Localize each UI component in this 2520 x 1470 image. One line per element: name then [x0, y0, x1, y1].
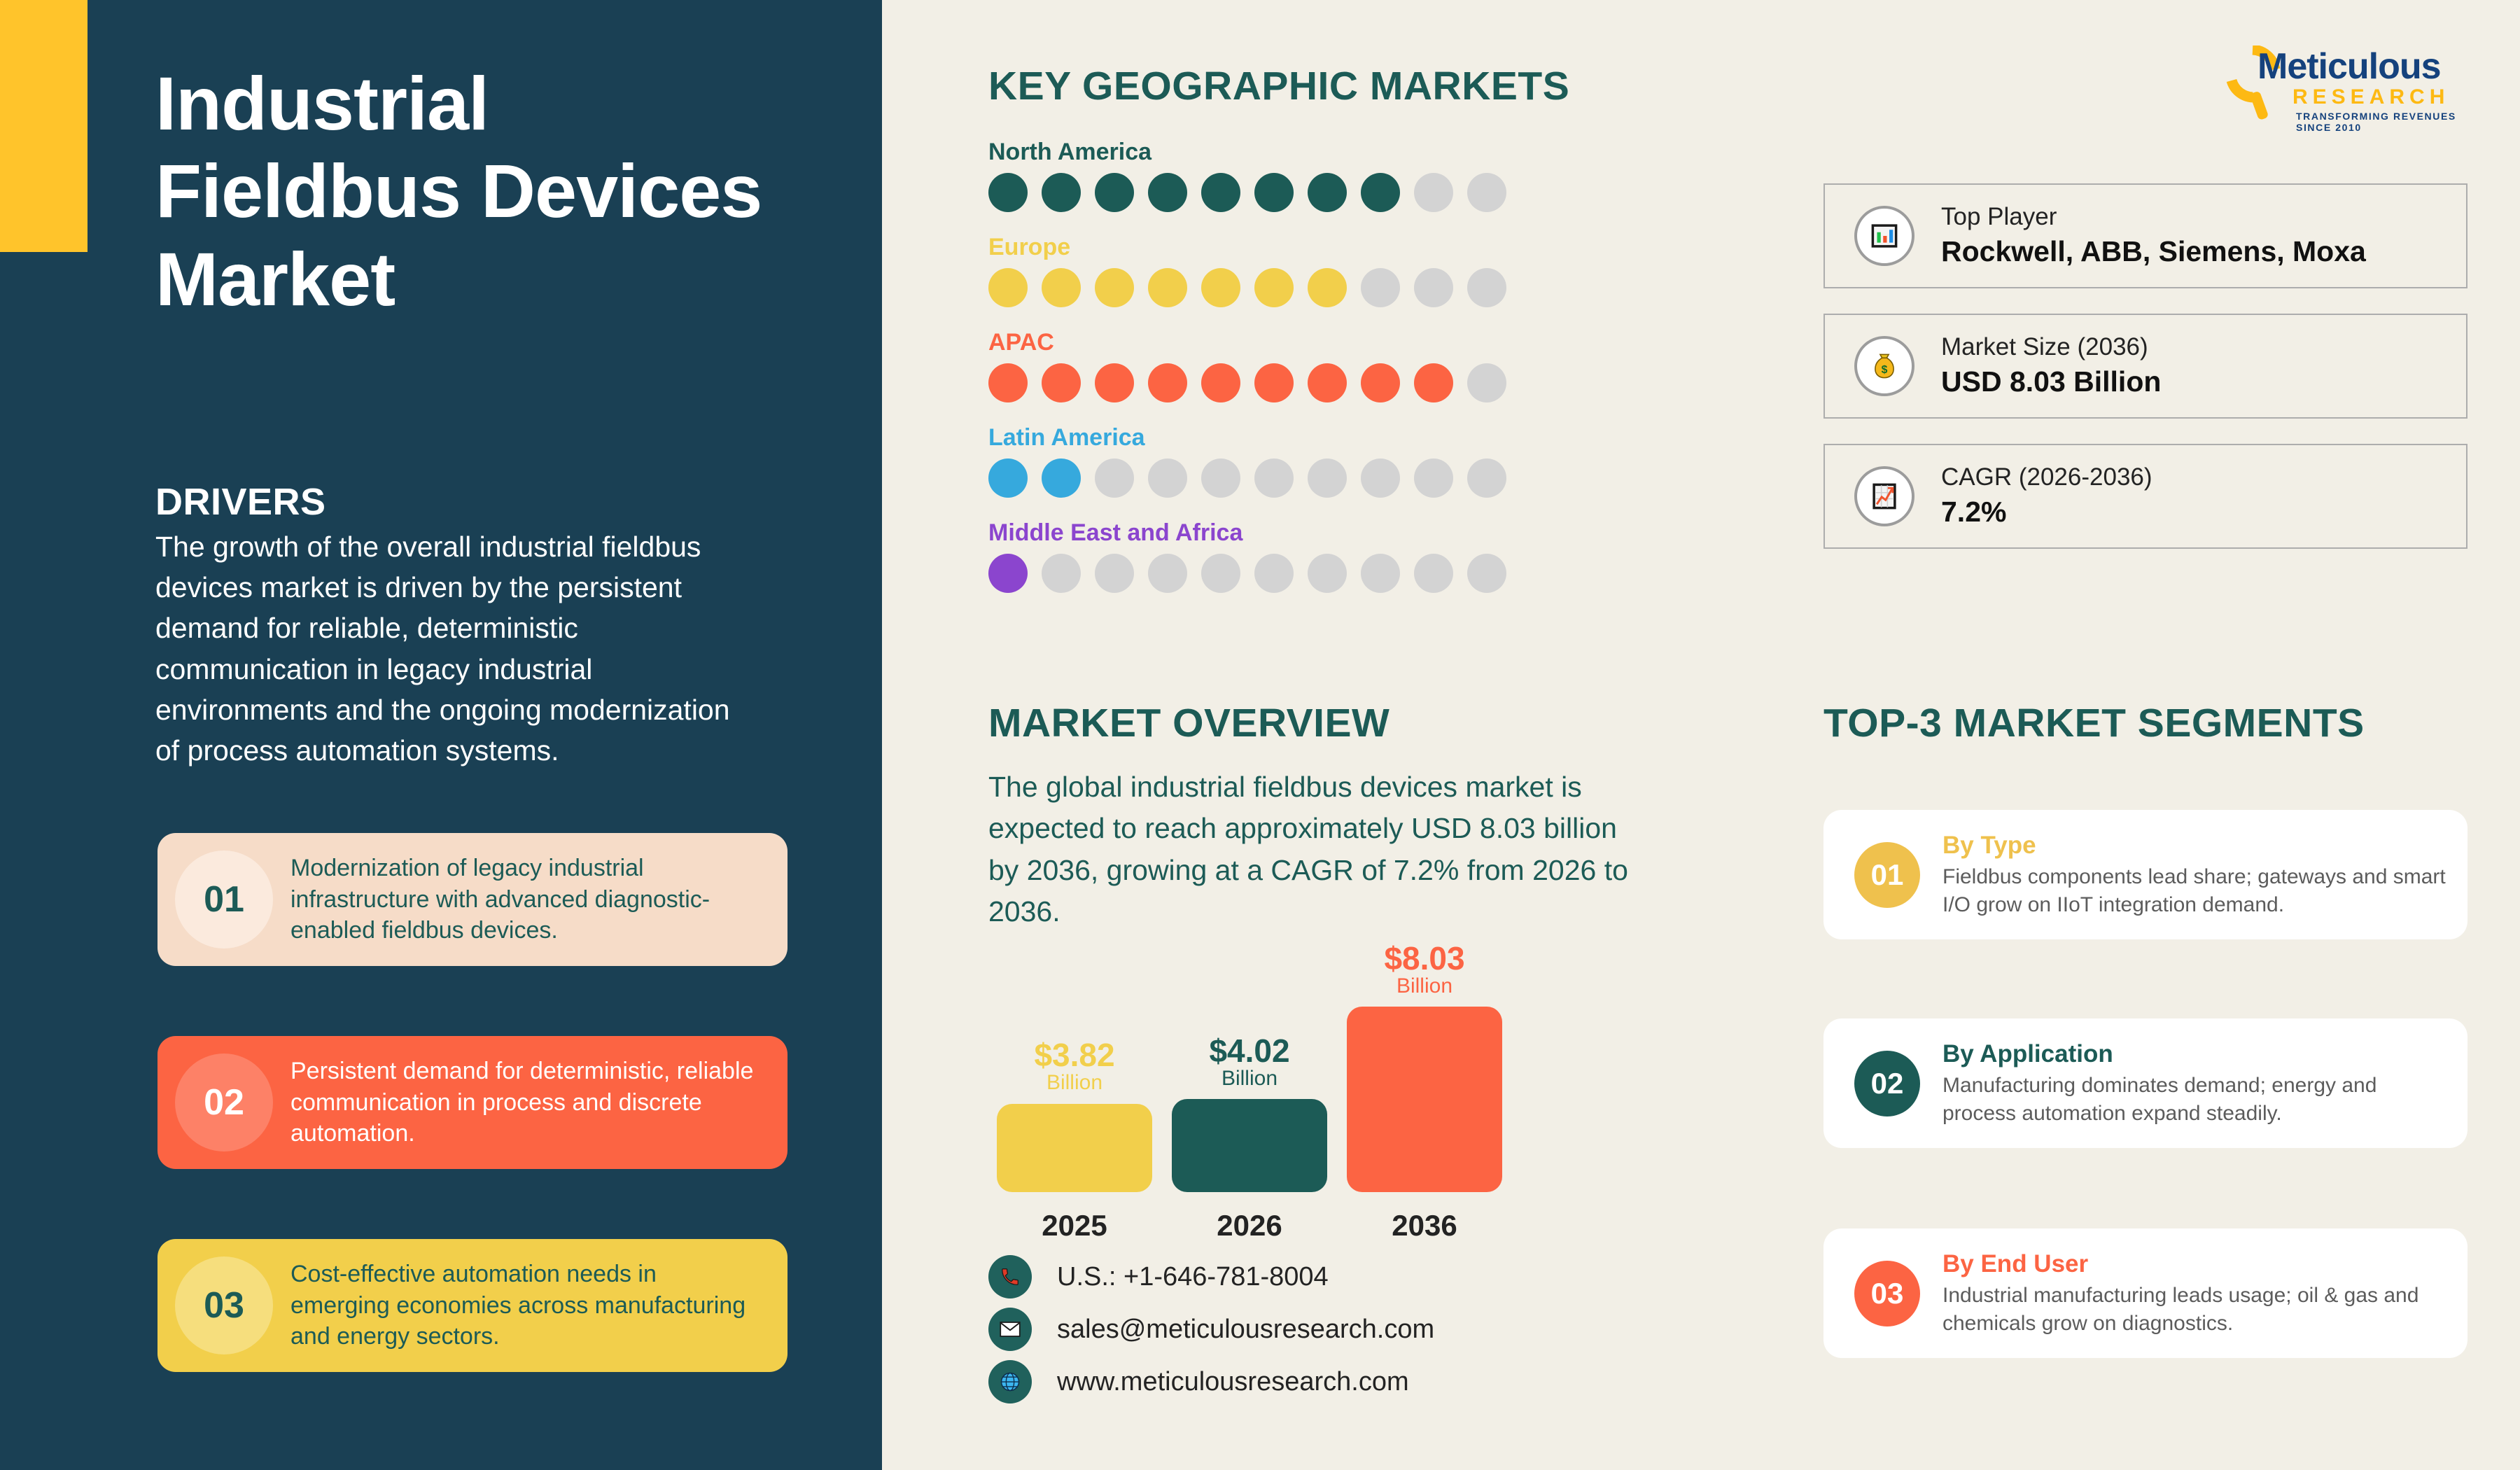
driver-text: Cost-effective automation needs in emerg… — [290, 1259, 787, 1353]
contact-text: U.S.: +1-646-781-8004 — [1057, 1262, 1329, 1292]
bar-rect — [997, 1104, 1152, 1192]
geo-dot-empty — [1414, 268, 1453, 307]
bar-column-2036: $8.03 Billion — [1347, 942, 1502, 1193]
geo-dot-filled — [1254, 268, 1294, 307]
geo-dot-filled — [1148, 173, 1187, 212]
geo-dot-empty — [1414, 554, 1453, 593]
segment-title: By End User — [1942, 1249, 2446, 1280]
segment-texts: By Type Fieldbus components lead share; … — [1942, 830, 2467, 920]
geo-dot-empty — [1254, 458, 1294, 498]
logo-wordmark: Meticulous — [2257, 45, 2441, 87]
meticulous-research-logo: Meticulous RESEARCH TRANSFORMING REVENUE… — [2219, 38, 2478, 126]
geo-dot-empty — [1095, 458, 1134, 498]
bar-unit-label: Billion — [1046, 1071, 1102, 1095]
geo-dot-filled — [1095, 363, 1134, 402]
segment-number: 02 — [1854, 1051, 1920, 1116]
segment-texts: By Application Manufacturing dominates d… — [1942, 1039, 2467, 1128]
market-size-bar-chart: $3.82 Billion $4.02 Billion $8.03 Billio… — [988, 948, 1548, 1242]
contact-website[interactable]: www.meticulousresearch.com — [988, 1360, 1409, 1403]
contact-phone[interactable]: U.S.: +1-646-781-8004 — [988, 1255, 1329, 1298]
geo-label: Europe — [988, 234, 1548, 261]
driver-number: 01 — [204, 878, 244, 920]
geo-dot-filled — [1042, 458, 1081, 498]
stat-value: Rockwell, ABB, Siemens, Moxa — [1941, 232, 2366, 271]
geo-row-europe: Europe — [988, 234, 1548, 307]
geo-dot-filled — [988, 554, 1028, 593]
segment-title: By Type — [1942, 830, 2446, 861]
driver-number: 02 — [204, 1081, 244, 1123]
geo-dot-empty — [1467, 554, 1506, 593]
geo-dot-filled — [988, 363, 1028, 402]
geo-dot-filled — [1414, 363, 1453, 402]
geo-label: Middle East and Africa — [988, 519, 1548, 547]
geo-dot-filled — [1201, 268, 1240, 307]
driver-text: Persistent demand for deterministic, rel… — [290, 1056, 787, 1150]
geo-dot-filled — [1201, 363, 1240, 402]
geo-dot-scale — [988, 458, 1548, 498]
geo-label: APAC — [988, 329, 1548, 356]
geo-dot-empty — [1467, 268, 1506, 307]
geo-dot-empty — [1095, 554, 1134, 593]
contact-text: www.meticulousresearch.com — [1057, 1367, 1409, 1397]
geo-dot-scale — [988, 173, 1548, 212]
geo-dot-empty — [1361, 554, 1400, 593]
geo-dot-empty — [1361, 458, 1400, 498]
stat-texts: Top Player Rockwell, ABB, Siemens, Moxa — [1941, 201, 2366, 272]
segment-number: 01 — [1854, 842, 1920, 908]
bar-column-2025: $3.82 Billion — [997, 1039, 1152, 1192]
geo-dot-empty — [1467, 458, 1506, 498]
chart-up-icon — [1854, 466, 1914, 526]
geo-dot-filled — [1095, 173, 1134, 212]
market-overview-body: The global industrial fieldbus devices m… — [988, 766, 1646, 933]
geo-dot-filled — [1042, 363, 1081, 402]
geo-dot-filled — [1148, 268, 1187, 307]
svg-text:$: $ — [1882, 364, 1888, 376]
geo-dot-empty — [1148, 554, 1187, 593]
bar-category-label: 2025 — [997, 1209, 1152, 1242]
bar-column-2026: $4.02 Billion — [1172, 1035, 1327, 1192]
geo-dot-empty — [1467, 363, 1506, 402]
geo-dot-empty — [1467, 173, 1506, 212]
geo-dot-filled — [1308, 268, 1347, 307]
segment-card-by-end-user[interactable]: 03 By End User Industrial manufacturing … — [1823, 1228, 2467, 1358]
geo-dot-filled — [1201, 173, 1240, 212]
geo-row-north-america: North America — [988, 139, 1548, 212]
driver-text: Modernization of legacy industrial infra… — [290, 853, 787, 947]
geo-label: Latin America — [988, 424, 1548, 451]
geo-dot-filled — [1042, 173, 1081, 212]
segment-description: Industrial manufacturing leads usage; oi… — [1942, 1282, 2446, 1338]
geo-dot-empty — [1201, 458, 1240, 498]
bar-category-label: 2036 — [1347, 1209, 1502, 1242]
geographic-markets-heading: KEY GEOGRAPHIC MARKETS — [988, 63, 1569, 109]
geo-dot-empty — [1201, 554, 1240, 593]
geo-dot-filled — [1148, 363, 1187, 402]
geo-dot-empty — [1042, 554, 1081, 593]
geo-dot-filled — [1254, 363, 1294, 402]
phone-icon — [988, 1255, 1032, 1298]
geo-dot-empty — [1308, 458, 1347, 498]
geo-dot-filled — [988, 173, 1028, 212]
geo-dot-empty — [1148, 458, 1187, 498]
bar-rect — [1172, 1099, 1327, 1192]
stat-label: Top Player — [1941, 201, 2366, 233]
geo-dot-empty — [1254, 554, 1294, 593]
stat-value: USD 8.03 Billion — [1941, 363, 2161, 401]
driver-card-2[interactable]: 02 Persistent demand for deterministic, … — [157, 1036, 787, 1169]
segment-description: Manufacturing dominates demand; energy a… — [1942, 1072, 2446, 1128]
logo-subwordmark: RESEARCH — [2292, 85, 2449, 109]
driver-number: 03 — [204, 1284, 244, 1326]
accent-bar — [0, 0, 87, 252]
bar-chart-icon — [1854, 206, 1914, 266]
drivers-body: The growth of the overall industrial fie… — [155, 526, 736, 771]
drivers-heading: DRIVERS — [155, 480, 326, 524]
geo-dot-filled — [1254, 173, 1294, 212]
logo-tagline: TRANSFORMING REVENUES SINCE 2010 — [2296, 111, 2478, 133]
geo-dot-empty — [1414, 458, 1453, 498]
stat-texts: Market Size (2036) USD 8.03 Billion — [1941, 331, 2161, 402]
stat-texts: CAGR (2026-2036) 7.2% — [1941, 461, 2152, 532]
segment-description: Fieldbus components lead share; gateways… — [1942, 863, 2446, 919]
bar-unit-label: Billion — [1396, 974, 1452, 999]
driver-card-3[interactable]: 03 Cost-effective automation needs in em… — [157, 1239, 787, 1372]
stat-label: Market Size (2036) — [1941, 331, 2161, 363]
driver-number-wrap: 02 — [157, 1036, 290, 1169]
stat-card-market-size: $ Market Size (2036) USD 8.03 Billion — [1823, 314, 2467, 419]
page-title: Industrial Fieldbus Devices Market — [155, 59, 785, 323]
segment-card-by-application[interactable]: 02 By Application Manufacturing dominate… — [1823, 1018, 2467, 1148]
segment-texts: By End User Industrial manufacturing lea… — [1942, 1249, 2467, 1338]
market-overview-heading: MARKET OVERVIEW — [988, 700, 1389, 746]
driver-number-wrap: 01 — [157, 833, 290, 966]
geo-dot-filled — [1042, 268, 1081, 307]
stat-card-cagr: CAGR (2026-2036) 7.2% — [1823, 444, 2467, 549]
stat-card-top-player: Top Player Rockwell, ABB, Siemens, Moxa — [1823, 183, 2467, 288]
bar-category-label: 2026 — [1172, 1209, 1327, 1242]
contact-text: sales@meticulousresearch.com — [1057, 1315, 1434, 1345]
geo-row-latin-america: Latin America — [988, 424, 1548, 498]
geo-dot-filled — [1361, 363, 1400, 402]
geo-dot-filled — [1361, 173, 1400, 212]
bar-value-label: $8.03 — [1384, 942, 1464, 974]
geo-label: North America — [988, 139, 1548, 166]
geo-dot-scale — [988, 363, 1548, 402]
segment-title: By Application — [1942, 1039, 2446, 1070]
driver-number-wrap: 03 — [157, 1239, 290, 1372]
driver-card-1[interactable]: 01 Modernization of legacy industrial in… — [157, 833, 787, 966]
geo-dot-empty — [1414, 173, 1453, 212]
money-bag-icon: $ — [1854, 336, 1914, 396]
geo-dot-scale — [988, 268, 1548, 307]
geo-dot-filled — [988, 268, 1028, 307]
bar-value-label: $4.02 — [1209, 1035, 1289, 1067]
bar-value-label: $3.82 — [1034, 1039, 1114, 1071]
geo-dot-filled — [1095, 268, 1134, 307]
geo-dot-scale — [988, 554, 1548, 593]
stat-value: 7.2% — [1941, 493, 2152, 531]
geo-dot-filled — [988, 458, 1028, 498]
bar-unit-label: Billion — [1221, 1067, 1277, 1091]
segment-card-by-type[interactable]: 01 By Type Fieldbus components lead shar… — [1823, 810, 2467, 939]
email-icon — [988, 1308, 1032, 1351]
geo-dot-filled — [1308, 173, 1347, 212]
globe-icon — [988, 1360, 1032, 1403]
geo-dot-empty — [1361, 268, 1400, 307]
stat-label: CAGR (2026-2036) — [1941, 461, 2152, 493]
geo-dot-empty — [1308, 554, 1347, 593]
geo-dot-filled — [1308, 363, 1347, 402]
bar-rect — [1347, 1007, 1502, 1192]
segment-number: 03 — [1854, 1261, 1920, 1326]
market-segments-heading: TOP-3 MARKET SEGMENTS — [1823, 700, 2365, 746]
contact-email[interactable]: sales@meticulousresearch.com — [988, 1308, 1434, 1351]
geo-row-middle-east-and-africa: Middle East and Africa — [988, 519, 1548, 593]
geo-row-apac: APAC — [988, 329, 1548, 402]
